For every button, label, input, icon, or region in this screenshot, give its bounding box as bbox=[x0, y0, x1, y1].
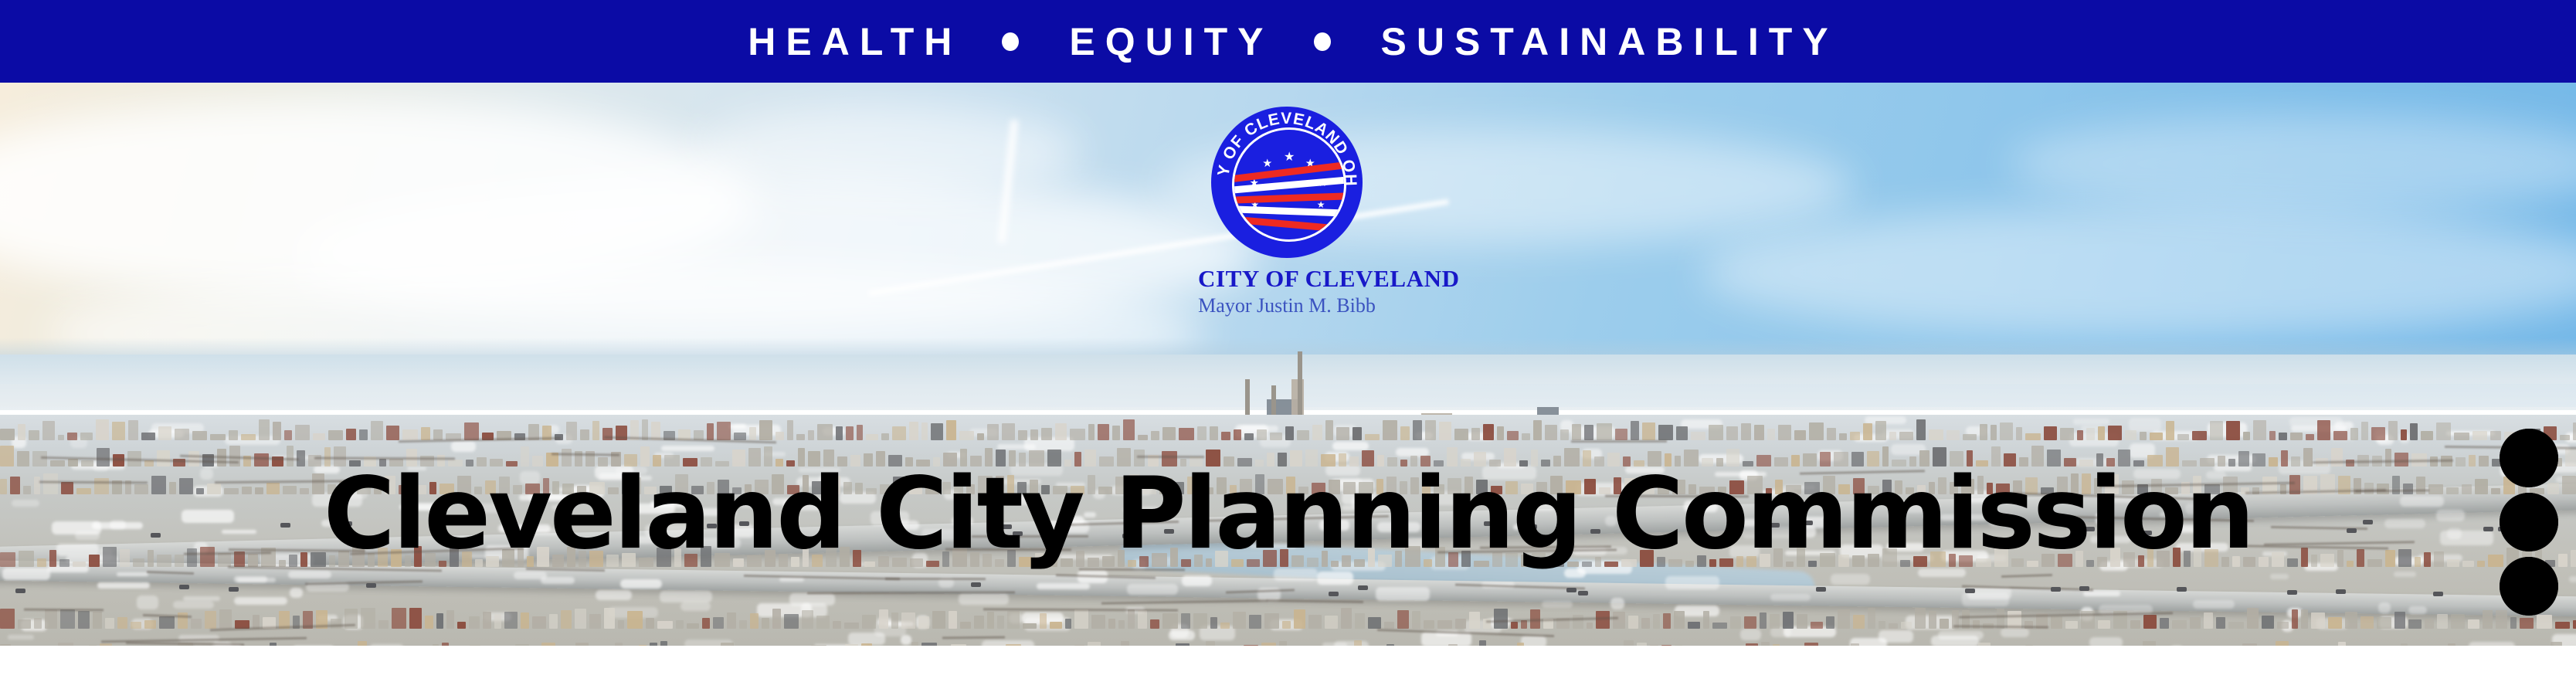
rooftop bbox=[34, 618, 42, 629]
rooftop bbox=[0, 429, 15, 440]
rooftop bbox=[2016, 427, 2023, 440]
rooftop bbox=[1744, 616, 1757, 629]
rooftop bbox=[2472, 431, 2487, 440]
rooftop bbox=[18, 424, 25, 440]
rooftop bbox=[739, 620, 747, 629]
rooftop bbox=[2537, 615, 2552, 629]
rooftop bbox=[1641, 618, 1650, 629]
rooftop bbox=[713, 617, 724, 629]
rooftop bbox=[1533, 420, 1542, 440]
rooftop bbox=[1455, 619, 1466, 629]
rooftop bbox=[2565, 449, 2576, 467]
snow-patch bbox=[514, 572, 548, 579]
rooftop bbox=[1297, 430, 1309, 440]
rooftop bbox=[1703, 611, 1709, 629]
rooftop bbox=[2331, 448, 2342, 467]
rooftop bbox=[627, 611, 643, 629]
tagline-word-equity: EQUITY bbox=[1059, 22, 1273, 61]
tree-line bbox=[1571, 440, 1667, 443]
facebook-icon[interactable] bbox=[2500, 557, 2558, 616]
rooftop bbox=[2303, 448, 2313, 466]
rooftop bbox=[1210, 617, 1217, 629]
rooftop bbox=[1112, 426, 1120, 440]
rooftop bbox=[229, 430, 237, 440]
rooftop bbox=[446, 610, 454, 629]
rooftop bbox=[2051, 616, 2062, 629]
rooftop bbox=[1809, 422, 1824, 440]
rooftop bbox=[2279, 433, 2287, 439]
rooftop bbox=[0, 609, 15, 629]
rooftop bbox=[1624, 640, 1634, 646]
rooftop bbox=[2483, 610, 2493, 629]
rooftop bbox=[1511, 622, 1518, 629]
rooftop bbox=[78, 611, 90, 629]
rooftop bbox=[1879, 621, 1885, 629]
rooftop bbox=[273, 422, 281, 440]
bullet-dot-icon bbox=[1002, 32, 1019, 51]
rooftop bbox=[1929, 611, 1936, 629]
snow-patch bbox=[234, 597, 287, 605]
rooftop bbox=[45, 609, 57, 629]
rooftop bbox=[1249, 615, 1261, 629]
snow-patch bbox=[1831, 574, 1870, 585]
rooftop bbox=[1471, 428, 1481, 440]
rooftop bbox=[2361, 422, 2369, 440]
rooftop bbox=[191, 619, 202, 629]
rooftop bbox=[112, 422, 125, 440]
rooftop bbox=[1264, 613, 1279, 629]
rooftop bbox=[2306, 434, 2314, 440]
rooftop bbox=[1494, 609, 1508, 629]
rooftop bbox=[1150, 619, 1160, 629]
rooftop bbox=[1778, 425, 1791, 440]
rooftop bbox=[144, 620, 157, 629]
rooftop bbox=[2573, 422, 2576, 440]
rooftop bbox=[802, 610, 813, 629]
rooftop bbox=[592, 421, 599, 440]
rooftop bbox=[157, 450, 170, 467]
rooftop bbox=[2311, 612, 2325, 629]
rooftop bbox=[0, 479, 7, 494]
rooftop bbox=[657, 621, 673, 629]
rooftop bbox=[2281, 450, 2288, 467]
rooftop bbox=[1128, 609, 1134, 629]
rooftop bbox=[210, 434, 226, 440]
rooftop bbox=[931, 423, 943, 440]
tree-line bbox=[942, 636, 1005, 639]
rooftop bbox=[2098, 620, 2110, 629]
rooftop bbox=[494, 614, 501, 629]
rooftop bbox=[1425, 420, 1435, 440]
rooftop bbox=[259, 419, 270, 440]
snow-patch bbox=[660, 591, 712, 602]
rooftop bbox=[2150, 433, 2163, 440]
rooftop bbox=[457, 622, 466, 629]
rooftop bbox=[1963, 434, 1977, 440]
rooftop bbox=[1041, 428, 1052, 440]
rooftop bbox=[2044, 426, 2057, 440]
rooftop bbox=[776, 432, 784, 440]
cloud bbox=[695, 106, 1081, 198]
rooftop bbox=[949, 611, 957, 629]
rooftop bbox=[2060, 428, 2074, 440]
building-row bbox=[0, 640, 2576, 646]
rooftop bbox=[1642, 422, 1655, 440]
rooftop bbox=[67, 433, 77, 440]
rooftop bbox=[549, 614, 557, 629]
rooftop bbox=[483, 612, 491, 629]
rooftop bbox=[96, 419, 108, 440]
rooftop bbox=[946, 420, 956, 440]
rooftop bbox=[1325, 420, 1333, 440]
rooftop bbox=[817, 424, 833, 440]
rooftop bbox=[1023, 623, 1037, 629]
rooftop bbox=[2573, 620, 2576, 629]
rooftop bbox=[750, 613, 759, 629]
rooftop bbox=[2345, 612, 2357, 629]
rooftop bbox=[687, 623, 699, 629]
snow-patch bbox=[1665, 576, 1719, 589]
rooftop bbox=[1197, 426, 1207, 440]
rooftop bbox=[881, 433, 889, 440]
rooftop bbox=[2216, 617, 2225, 629]
rooftop bbox=[2410, 423, 2418, 440]
rooftop bbox=[1098, 424, 1109, 440]
vehicle bbox=[1965, 589, 1975, 593]
rooftop bbox=[2385, 449, 2391, 467]
rooftop bbox=[1312, 425, 1323, 440]
snow-patch bbox=[2083, 591, 2121, 595]
social-links bbox=[2499, 429, 2559, 616]
rooftop bbox=[921, 422, 928, 440]
rooftop bbox=[0, 446, 14, 467]
rooftop bbox=[1383, 420, 1397, 440]
city-of-cleveland-seal-icon: CITY OF CLEVELAND OHIO ★★★★★★★ bbox=[1211, 107, 1363, 258]
rooftop bbox=[1929, 429, 1943, 440]
rooftop bbox=[2177, 434, 2189, 440]
rooftop bbox=[1658, 425, 1673, 440]
rooftop bbox=[1138, 610, 1147, 629]
rooftop bbox=[580, 429, 589, 440]
rooftop bbox=[844, 623, 859, 629]
rooftop bbox=[1497, 426, 1505, 440]
rooftop bbox=[1741, 423, 1751, 440]
rooftop bbox=[1584, 425, 1594, 440]
rooftop bbox=[1868, 608, 1876, 629]
rooftop bbox=[1257, 429, 1267, 440]
rooftop bbox=[2077, 430, 2083, 440]
rooftop bbox=[1439, 422, 1451, 439]
rooftop bbox=[60, 609, 75, 629]
rooftop bbox=[1308, 615, 1322, 629]
rooftop bbox=[1454, 429, 1468, 440]
rooftop bbox=[1123, 419, 1135, 440]
rooftop bbox=[2290, 433, 2303, 440]
rooftop bbox=[1889, 432, 1896, 440]
rooftop bbox=[29, 430, 39, 440]
rooftop bbox=[241, 434, 256, 440]
rooftop bbox=[1118, 620, 1125, 629]
bottom-white-strip bbox=[0, 646, 2576, 682]
rooftop bbox=[1002, 423, 1015, 440]
rooftop bbox=[2388, 421, 2397, 440]
rooftop bbox=[1688, 622, 1700, 629]
rooftop bbox=[532, 616, 547, 629]
tree-line bbox=[1101, 600, 1268, 605]
rooftop bbox=[421, 427, 431, 440]
rooftop bbox=[436, 613, 443, 629]
snow-patch bbox=[1037, 583, 1091, 589]
rooftop bbox=[188, 451, 199, 467]
rooftop bbox=[1088, 424, 1095, 440]
rooftop bbox=[1767, 429, 1775, 440]
snow-patch bbox=[2001, 628, 2029, 637]
star-icon: ★ bbox=[1284, 151, 1295, 164]
rooftop bbox=[1007, 611, 1020, 629]
rooftop bbox=[749, 427, 756, 440]
rooftop bbox=[1030, 429, 1038, 440]
rooftop bbox=[787, 420, 793, 440]
rooftop bbox=[2192, 431, 2207, 440]
rooftop bbox=[1653, 614, 1660, 629]
vehicle bbox=[1566, 588, 1576, 592]
snow-patch bbox=[596, 590, 632, 600]
rooftop bbox=[1424, 620, 1434, 629]
rooftop bbox=[80, 433, 93, 440]
rooftop bbox=[1065, 619, 1071, 629]
snow-patch bbox=[1127, 584, 1177, 595]
rooftop bbox=[2436, 422, 2451, 440]
rooftop bbox=[575, 609, 585, 629]
rooftop bbox=[128, 420, 138, 440]
rooftop bbox=[1400, 426, 1410, 440]
rooftop bbox=[93, 612, 102, 629]
rooftop bbox=[2510, 617, 2517, 629]
rooftop bbox=[974, 616, 985, 629]
rooftop bbox=[866, 434, 878, 440]
vehicle bbox=[2177, 587, 2187, 592]
rooftop bbox=[1162, 613, 1178, 629]
vehicle bbox=[2433, 592, 2443, 596]
rooftop bbox=[2190, 617, 2201, 629]
rooftop bbox=[759, 420, 772, 440]
vehicle bbox=[2287, 590, 2297, 595]
rooftop bbox=[1980, 424, 1987, 440]
rooftop bbox=[784, 614, 799, 629]
rooftop bbox=[42, 421, 55, 440]
snow-patch bbox=[290, 588, 303, 598]
snow-patch bbox=[2, 568, 50, 580]
city-of-cleveland-label: CITY OF CLEVELAND bbox=[1198, 266, 1376, 292]
rooftop bbox=[219, 609, 232, 629]
rooftop bbox=[1838, 609, 1851, 629]
snow-patch bbox=[789, 593, 835, 606]
rooftop bbox=[141, 433, 155, 440]
rooftop bbox=[464, 422, 479, 440]
rooftop bbox=[1915, 608, 1925, 629]
rooftop bbox=[1193, 613, 1208, 629]
rooftop bbox=[2425, 619, 2434, 629]
rooftop bbox=[1162, 427, 1176, 440]
rooftop bbox=[909, 422, 918, 440]
rooftop bbox=[131, 622, 141, 629]
rooftop bbox=[1138, 435, 1148, 440]
rooftop bbox=[589, 614, 601, 629]
rooftop bbox=[1572, 424, 1580, 440]
page-title: Cleveland City Planning Commission bbox=[13, 465, 2564, 564]
snow-patch bbox=[8, 635, 34, 640]
tree-line bbox=[807, 591, 1015, 594]
rooftop bbox=[1916, 419, 1926, 440]
rooftop bbox=[1726, 426, 1738, 440]
vehicle bbox=[179, 585, 189, 589]
rooftop bbox=[1839, 433, 1847, 440]
rooftop bbox=[1628, 616, 1638, 629]
rooftop bbox=[409, 608, 423, 629]
rooftop bbox=[1991, 425, 1997, 440]
rooftop bbox=[2333, 431, 2347, 440]
rooftop bbox=[1336, 427, 1349, 440]
rooftop bbox=[1783, 612, 1794, 629]
rooftop bbox=[1220, 623, 1230, 629]
rooftop bbox=[2269, 431, 2276, 440]
rooftop bbox=[346, 429, 355, 440]
vehicle bbox=[1329, 592, 1339, 596]
rooftop bbox=[2360, 616, 2374, 629]
rooftop bbox=[1384, 622, 1394, 629]
rooftop bbox=[2226, 421, 2240, 440]
rooftop bbox=[1560, 429, 1569, 440]
snow-patch bbox=[2569, 576, 2576, 582]
rooftop bbox=[1663, 613, 1670, 629]
rooftop bbox=[2108, 426, 2122, 440]
rooftop bbox=[987, 612, 994, 629]
youtube-icon[interactable] bbox=[2500, 429, 2558, 487]
rooftop bbox=[1615, 429, 1627, 440]
tagline-word-sustainability: SUSTAINABILITY bbox=[1371, 22, 1838, 61]
rooftop bbox=[1479, 640, 1486, 646]
rooftop bbox=[1365, 434, 1380, 440]
rooftop bbox=[1181, 613, 1190, 629]
rooftop bbox=[618, 620, 625, 629]
rooftop bbox=[833, 621, 841, 629]
snow-patch bbox=[234, 576, 267, 582]
mayor-name-label: Mayor Justin M. Bibb bbox=[1198, 295, 1376, 316]
rooftop bbox=[977, 433, 984, 440]
snow-patch bbox=[620, 579, 661, 589]
rooftop bbox=[1827, 428, 1836, 440]
rooftop bbox=[2328, 617, 2342, 629]
rooftop bbox=[734, 433, 746, 440]
rooftop bbox=[1853, 615, 1864, 629]
rooftop bbox=[2172, 620, 2187, 629]
rooftop bbox=[2247, 608, 2259, 629]
rooftop bbox=[702, 618, 710, 629]
rooftop bbox=[402, 429, 417, 440]
tree-line bbox=[1267, 600, 1363, 604]
rooftop bbox=[2555, 622, 2570, 629]
rooftop bbox=[1613, 612, 1625, 629]
rooftop bbox=[932, 611, 945, 629]
rooftop bbox=[1946, 430, 1960, 440]
snow-patch bbox=[1542, 601, 1573, 608]
rooftop bbox=[58, 435, 64, 440]
rooftop bbox=[762, 618, 769, 629]
rooftop bbox=[2401, 429, 2407, 440]
rooftop bbox=[816, 616, 830, 629]
rooftop bbox=[284, 430, 291, 440]
cleveland-city-planning-commission-header: HEALTH EQUITY SUSTAINABILITY bbox=[0, 0, 2576, 682]
rooftop bbox=[2377, 617, 2391, 629]
rooftop bbox=[1437, 620, 1453, 629]
rooftop bbox=[604, 608, 615, 629]
rooftop bbox=[1691, 432, 1705, 440]
rooftop bbox=[857, 425, 864, 440]
rooftop bbox=[175, 429, 189, 440]
rooftop bbox=[105, 618, 114, 629]
vehicle bbox=[15, 589, 25, 593]
snow-patch bbox=[97, 582, 151, 589]
rooftop bbox=[1940, 619, 1949, 629]
rooftop bbox=[1282, 621, 1291, 629]
rooftop bbox=[2243, 432, 2250, 440]
vehicle bbox=[1358, 585, 1368, 590]
rooftop bbox=[1413, 420, 1422, 440]
building-row bbox=[0, 419, 2576, 440]
rooftop bbox=[1050, 622, 1062, 629]
rooftop bbox=[836, 426, 843, 440]
rooftop bbox=[1234, 429, 1241, 440]
rooftop bbox=[433, 429, 443, 440]
snow-patch bbox=[1182, 575, 1212, 586]
rooftop bbox=[1709, 425, 1723, 440]
rooftop bbox=[1108, 619, 1115, 629]
rooftop bbox=[1676, 426, 1687, 439]
rooftop bbox=[1151, 431, 1160, 439]
rooftop bbox=[1631, 421, 1639, 440]
instagram-icon[interactable] bbox=[2500, 493, 2558, 551]
rooftop bbox=[2451, 614, 2465, 629]
rooftop bbox=[1587, 623, 1593, 629]
rooftop bbox=[17, 451, 29, 467]
tree-line bbox=[885, 578, 986, 580]
rooftop bbox=[2086, 428, 2095, 440]
rooftop bbox=[159, 616, 175, 629]
rooftop bbox=[1040, 613, 1047, 629]
rooftop bbox=[846, 426, 853, 440]
vehicle bbox=[2079, 586, 2089, 591]
rooftop bbox=[1760, 612, 1766, 629]
rooftop bbox=[1522, 433, 1529, 440]
rooftop bbox=[2394, 612, 2405, 629]
rooftop bbox=[2437, 614, 2448, 629]
rooftop bbox=[2421, 431, 2433, 440]
rooftop bbox=[2098, 426, 2105, 440]
rooftop bbox=[2025, 433, 2041, 440]
rooftop bbox=[1826, 616, 1834, 629]
bullet-dot-icon bbox=[1314, 32, 1331, 51]
rooftop bbox=[1754, 425, 1763, 440]
rooftop bbox=[1179, 428, 1193, 440]
rooftop bbox=[386, 426, 399, 440]
city-branding-block: CITY OF CLEVELAND OHIO ★★★★★★★ CITY OF C… bbox=[1198, 107, 1376, 316]
vehicle bbox=[1816, 587, 1826, 592]
rooftop bbox=[772, 609, 781, 629]
rooftop bbox=[1507, 431, 1519, 440]
rooftop bbox=[1850, 432, 1860, 440]
rooftop bbox=[2143, 615, 2156, 629]
snow-patch bbox=[1317, 572, 1353, 585]
